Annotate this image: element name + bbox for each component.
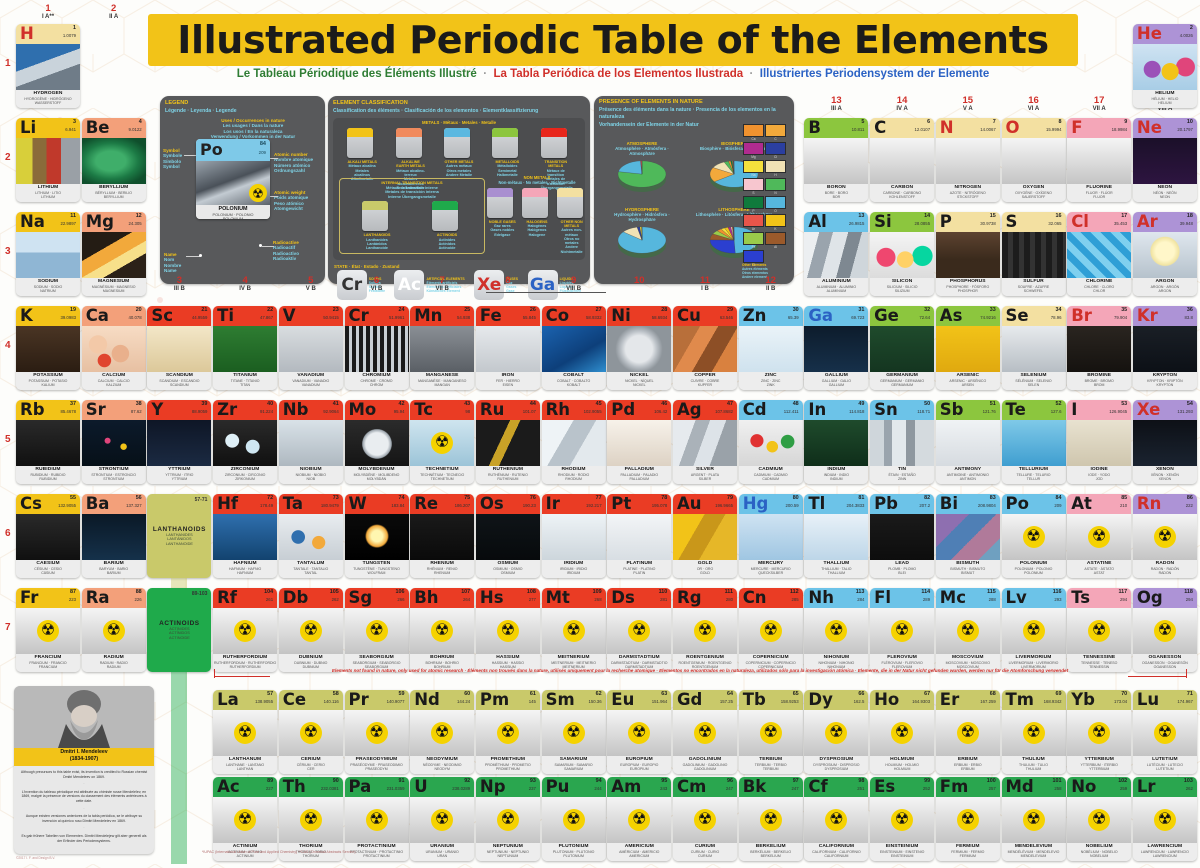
group-number: 17: [1067, 96, 1131, 106]
element-atomic-number: 32: [924, 307, 930, 313]
nature-legend-h: H: [765, 160, 786, 177]
element-card-am[interactable]: Am95243☢AMERICIUMAMÉRICIUM · AMERICIOAME…: [607, 777, 671, 861]
element-card-ba[interactable]: Ba56137.327BARIUMBARYUM · BARIOBARIUM: [82, 494, 146, 578]
element-card-mc[interactable]: Mc115288☢MOSCOVIUMMOSCOVIUM · MOSCOVIOMO…: [936, 588, 1000, 672]
element-card-tc[interactable]: Tc4398☢TECHNETIUMTECHNÉTIUM · TECNECIOTE…: [410, 400, 474, 484]
element-atomic-number: 76: [530, 495, 536, 501]
element-card-lr[interactable]: Lr103262☢LAWRENCIUMLAWRENCIUM · LAWRENCI…: [1133, 777, 1197, 861]
element-card-bi[interactable]: Bi83208.9804BISMUTHBISMUTH · BISMUTOBISM…: [936, 494, 1000, 578]
element-card-at[interactable]: At85210☢ASTATINEASTATE · ÁSTATOASTAT: [1067, 494, 1131, 578]
element-card-ag[interactable]: Ag47107.8682SILVERARGENT · PLATASILBER: [673, 400, 737, 484]
element-image: [16, 138, 80, 184]
element-card-in[interactable]: In49114.818INDIUMINDIUM · INDIOINDIUM: [804, 400, 868, 484]
group-number: 8: [476, 276, 540, 286]
element-card-cd[interactable]: Cd48112.411CADMIUMCADMIUM · CADMIOCADMIU…: [739, 400, 803, 484]
element-header: Sn50118.71: [870, 400, 934, 420]
element-card-tb[interactable]: Tb65158.9253☢TERBIUMTERBIUM · TERBIOTERB…: [739, 690, 803, 774]
element-atomic-weight: 281: [660, 597, 667, 602]
element-atomic-number: 102: [1118, 778, 1127, 784]
element-card-mt[interactable]: Mt109268☢MEITNERIUMMEITNERIUM · MEITNERI…: [542, 588, 606, 672]
element-header: Nb4192.9064: [279, 400, 343, 420]
element-symbol: Cn: [743, 588, 767, 608]
group-header-8: 8: [476, 276, 540, 286]
element-header: Cd48112.411: [739, 400, 803, 420]
element-card-n[interactable]: N714.0067NITROGENAZOTE · NITRÓGENOSTICKS…: [936, 118, 1000, 202]
element-atomic-weight: 284: [857, 597, 864, 602]
element-card-cu[interactable]: Cu2963.546COPPERCUIVRE · COBREKUPFER: [673, 306, 737, 390]
element-card-lv[interactable]: Lv116293☢LIVERMORIUMLIVERMORIUM · LIVERM…: [1002, 588, 1066, 672]
element-atomic-weight: 30.9738: [980, 221, 996, 226]
element-symbol: At: [1071, 494, 1092, 514]
element-card-pt[interactable]: Pt78195.078PLATINUMPLATINE · PLATINOPLAT…: [607, 494, 671, 578]
element-atomic-number: 116: [1053, 589, 1062, 595]
element-card-bh[interactable]: Bh107264☢BOHRIUMBOHRIUM · BOHRIOBOHRIUM: [410, 588, 474, 672]
element-image: ☢: [870, 710, 934, 756]
element-symbol: Tm: [1006, 690, 1034, 710]
element-image: [82, 326, 146, 372]
element-header: U92238.0289: [410, 777, 474, 797]
element-symbol: Os: [480, 494, 504, 514]
group-number: 12: [739, 276, 803, 286]
element-card-w[interactable]: W74183.84TUNGSTENTUNGSTÈNE · TUNGSTENOWO…: [345, 494, 409, 578]
element-atomic-number: 82: [924, 495, 930, 501]
element-atomic-weight: 137.327: [126, 503, 142, 508]
element-image: [673, 326, 737, 372]
element-image: ☢: [16, 608, 80, 654]
element-card-nd[interactable]: Nd60144.24☢NEODYMIUMNÉODYME · NEODIMIONE…: [410, 690, 474, 774]
element-card-er[interactable]: Er68167.259☢ERBIUMERBIUM · ERBIOERBIUM: [936, 690, 1000, 774]
element-card-as[interactable]: As3374.9216ARSENICARSENIC · ARSÉNICOARSE…: [936, 306, 1000, 390]
element-header: Tm69168.9342: [1002, 690, 1066, 710]
element-card-au[interactable]: Au79196.9665GOLDOR · OROGOLD: [673, 494, 737, 578]
element-card-fr[interactable]: Fr87223☢FRANCIUMFRANCIUM · FRANCIOFRANCI…: [16, 588, 80, 672]
element-card-pm[interactable]: Pm61145☢PROMETHIUMPROMÉTHIUM · PROMETIOP…: [476, 690, 540, 774]
element-name-block: LEADPLOMB · PLOMOBLEI: [870, 560, 934, 578]
element-card-pd[interactable]: Pd46106.42PALLADIUMPALLADIUM · PALADIOPA…: [607, 400, 671, 484]
element-name-block: DYSPROSIUMDYSPROSIUM · DISPROSIODYSPROSI…: [804, 756, 868, 774]
element-header: Gd64157.25: [673, 690, 737, 710]
element-atomic-number: 7: [993, 119, 996, 125]
element-symbol: Es: [874, 777, 895, 797]
element-name-block: ARSENICARSENIC · ARSÉNICOARSEN: [936, 372, 1000, 390]
element-card-co[interactable]: Co2758.9332COBALTCOBALT · COBALTOKOBALT: [542, 306, 606, 390]
element-symbol: Si: [874, 212, 892, 232]
element-header: Na1122.9897: [16, 212, 80, 232]
element-card-rg[interactable]: Rg111280☢ROENTGENIUMROENTGENIUM · ROENTG…: [673, 588, 737, 672]
element-card-cl[interactable]: Cl1735.453CHLORINECHLORE · CLOROCHLOR: [1067, 212, 1131, 296]
element-atomic-weight: 39.0983: [60, 315, 76, 320]
nature-legend-ca: Ca: [743, 124, 764, 141]
element-card-y[interactable]: Y3988.9059YTTRIUMYTTRIUM · ITRIOYTTRIUM: [147, 400, 211, 484]
element-symbol: Ga: [808, 306, 833, 326]
group-roman: VI B: [345, 286, 409, 293]
element-symbol: Se: [1006, 306, 1029, 326]
element-card-pa[interactable]: Pa91231.0359☢PROTACTINIUMPROTACTINIUM · …: [345, 777, 409, 861]
element-symbol: Tb: [743, 690, 766, 710]
element-atomic-number: 99: [924, 778, 930, 784]
element-card-sg[interactable]: Sg106266☢SEABORGIUMSEABORGIUM · SEABORGI…: [345, 588, 409, 672]
element-card-pr[interactable]: Pr59140.9077☢PRASEODYMIUMPRASÉODYME · PR…: [345, 690, 409, 774]
element-card-i[interactable]: I53126.9045IODINEIODE · YODOJOD: [1067, 400, 1131, 484]
element-image: [804, 232, 868, 278]
element-symbol: Ir: [546, 494, 560, 514]
nature-legend-n: N: [765, 178, 786, 195]
element-header: Tc4398: [410, 400, 474, 420]
classification-inner: METALS · Métaux · Metales · Metalle ALKA…: [333, 118, 585, 260]
element-card-rh[interactable]: Rh45102.9055RHODIUMRHODIUM · RODIORHODIU…: [542, 400, 606, 484]
element-card-ac[interactable]: Ac89227☢ACTINIUMACTINIUM · ACTINIOACTINI…: [213, 777, 277, 861]
legend-sample-image: ☢: [196, 161, 270, 205]
element-name-block: SODIUMSODIUM · SODIONATRIUM: [16, 278, 80, 296]
element-card-ds[interactable]: Ds110281☢DARMSTADTIUMDARMSTADTIUM · DARM…: [607, 588, 671, 672]
element-card-la[interactable]: La57138.9055☢LANTHANUMLANTHANE · LANTANO…: [213, 690, 277, 774]
element-header: Ho67164.9303: [870, 690, 934, 710]
element-symbol: Er: [940, 690, 959, 710]
element-card-si[interactable]: Si1428.0855SILICONSILICIUM · SILICIOSILI…: [870, 212, 934, 296]
element-atomic-weight: 231.0359: [387, 786, 405, 791]
element-card-db[interactable]: Db105262☢DUBNIUMDUBNIUM · DUBNIODUBNIUM: [279, 588, 343, 672]
element-card-th[interactable]: Th90232.0381☢THORIUMTHORIUM · TORIOTHORI…: [279, 777, 343, 861]
element-image: ☢: [279, 710, 343, 756]
element-image: ☢: [410, 710, 474, 756]
element-card-gd[interactable]: Gd64157.25☢GADOLINIUMGADOLINIUM · GADOLI…: [673, 690, 737, 774]
element-symbol: B: [808, 118, 821, 138]
element-atomic-weight: 144.24: [457, 699, 470, 704]
element-card-ni[interactable]: Ni2858.6934NICKELNICKEL · NÍQUELNICKEL: [607, 306, 671, 390]
element-atomic-weight: 18.9984: [1112, 127, 1128, 132]
element-atomic-weight: 47.867: [260, 315, 273, 320]
element-image: [542, 420, 606, 466]
element-card-sb[interactable]: Sb51121.76ANTIMONYANTIMOINE · ANTIMONIOA…: [936, 400, 1000, 484]
element-name-block: RADIUMRADIUM · RADIORADIUM: [82, 654, 146, 672]
element-name-block: TERBIUMTERBIUM · TERBIOTERBIUM: [739, 756, 803, 774]
element-card-te[interactable]: Te52127.6TELLURIUMTELLURE · TELURIOTELLU…: [1002, 400, 1066, 484]
element-card-ir[interactable]: Ir77192.217IRIDIUMIRIDIUM · IRIDIOIRIDIU…: [542, 494, 606, 578]
element-card-fl[interactable]: Fl114289☢FLEROVIUMFLÉROVIUM · FLEROVIOFL…: [870, 588, 934, 672]
element-header: At85210: [1067, 494, 1131, 514]
element-symbol: I: [1071, 400, 1077, 420]
element-card-p[interactable]: P1530.9738PHOSPHORUSPHOSPHORE · FÓSFOROP…: [936, 212, 1000, 296]
element-image: [345, 514, 409, 560]
element-card-he[interactable]: He24.0026HELIUMHÉLIUM · HELIOHELIUM: [1133, 24, 1197, 108]
element-card-rb[interactable]: Rb3785.4678RUBIDIUMRUBIDIUM · RUBIDIORUB…: [16, 400, 80, 484]
group-roman: IV B: [213, 286, 277, 293]
element-image: [1067, 232, 1131, 278]
element-card-ne[interactable]: Ne1020.1797NEONNÉON · NEÓNNEON: [1133, 118, 1197, 202]
element-atomic-number: 18: [1187, 213, 1193, 219]
element-card-be[interactable]: Be49.0122BERYLLIUMBÉRYLLIUM · BERILIOBER…: [82, 118, 146, 202]
element-card-og[interactable]: Og118294☢OGANESSONOGANESSON · OGANESÓNOG…: [1133, 588, 1197, 672]
element-symbol: Rb: [20, 400, 45, 420]
element-atomic-number: 60: [464, 691, 470, 697]
element-card-se[interactable]: Se3478.96SELENIUMSÉLÉNIUM · SELENIOSELEN: [1002, 306, 1066, 390]
element-card-f[interactable]: F918.9984FLUORINEFLUOR · FLÚORFLUOR: [1067, 118, 1131, 202]
element-name-block: HAFNIUMHAFNIUM · HAFNIOHAFNIUM: [213, 560, 277, 578]
element-card-cn[interactable]: Cn112285☢COPERNICIUMCOPERNICIUM · COPERN…: [739, 588, 803, 672]
element-header: Og118294: [1133, 588, 1197, 608]
radioactive-icon: ☢: [234, 722, 256, 744]
element-card-b[interactable]: B510.811BORONBORE · BOROBOR: [804, 118, 868, 202]
element-name-block: MAGNESIUMMAGNÉSIUM · MAGNESIOMAGNESIUM: [82, 278, 146, 296]
element-atomic-weight: 140.116: [324, 699, 339, 704]
element-card-tm[interactable]: Tm69168.9342☢THULIUMTHULIUM · TULIOTHULI…: [1002, 690, 1066, 774]
element-card-hf[interactable]: Hf72178.49HAFNIUMHAFNIUM · HAFNIOHAFNIUM: [213, 494, 277, 578]
element-atomic-number: 5: [861, 119, 864, 125]
radioactive-icon: ☢: [891, 809, 913, 831]
element-image: ☢: [607, 797, 671, 843]
element-atomic-number: 9: [1124, 119, 1127, 125]
element-card-nb[interactable]: Nb4192.9064NIOBIUMNIOBIUM · NIOBIONIOB: [279, 400, 343, 484]
element-header: Mc115288: [936, 588, 1000, 608]
nonmetals-swatch-row: NOBLE GASESGaz raresGases noblesEdelgase…: [485, 188, 589, 254]
element-card-ge[interactable]: Ge3272.64GERMANIUMGERMANIUM · GERMANIOGE…: [870, 306, 934, 390]
series-connector: [171, 672, 187, 864]
element-card-k[interactable]: K1939.0983POTASSIUMPOTASSIUM · POTASIOKA…: [16, 306, 80, 390]
nature-legend-c: C: [765, 124, 786, 141]
element-card-hs[interactable]: Hs108277☢HASSIUMHASSIUM · HASSIOHASSIUM: [476, 588, 540, 672]
element-symbol: Na: [20, 212, 45, 232]
element-card-yb[interactable]: Yb70173.04☢YTTERBIUMYTTERBIUM · ITERBIOY…: [1067, 690, 1131, 774]
element-card-mg[interactable]: Mg1224.305MAGNESIUMMAGNÉSIUM · MAGNESIOM…: [82, 212, 146, 296]
element-card-ta[interactable]: Ta73180.9479TANTALUMTANTALE · TANTALIOTA…: [279, 494, 343, 578]
element-header: Ni2858.6934: [607, 306, 671, 326]
radioactive-icon: ☢: [694, 722, 716, 744]
element-atomic-weight: 72.64: [919, 315, 930, 320]
element-symbol: Bi: [940, 494, 958, 514]
element-name-block: PRASEODYMIUMPRASÉODYME · PRASEODIMIOPRAS…: [345, 756, 409, 774]
element-card-os[interactable]: Os76190.23OSMIUMOSMIUM · OSMIOOSMIUM: [476, 494, 540, 578]
element-name-block: NEONNÉON · NEÓNNEON: [1133, 184, 1197, 202]
element-atomic-number: 46: [661, 401, 667, 407]
element-atomic-number: 100: [987, 778, 996, 784]
element-name-block: RHODIUMRHODIUM · RODIORHODIUM: [542, 466, 606, 484]
element-atomic-number: 75: [464, 495, 470, 501]
element-card-s[interactable]: S1632.065SULFURSOUFRE · AZUFRESCHWEFEL: [1002, 212, 1066, 296]
element-header: Br3579.904: [1067, 306, 1131, 326]
element-card-md[interactable]: Md101258☢MENDELEVIUMMENDÉLÉVIUM · MENDEL…: [1002, 777, 1066, 861]
element-header: Ti2247.867: [213, 306, 277, 326]
group-roman: VI A: [1002, 106, 1066, 113]
element-atomic-number: 117: [1118, 589, 1127, 595]
element-card-ar[interactable]: Ar1839.948ARGONARGON · ARGÓNARGON: [1133, 212, 1197, 296]
element-header: Ce58140.116: [279, 690, 343, 710]
radioactive-icon: ☢: [431, 432, 453, 454]
element-atomic-weight: 210: [1120, 503, 1127, 508]
element-card-es[interactable]: Es99252☢EINSTEINIUMEINSTEINIUM · EINSTEN…: [870, 777, 934, 861]
itm-swatch-row: LANTHANOIDSLanthanidesLantánidosLanthano…: [342, 201, 482, 250]
element-image: [673, 420, 737, 466]
element-header: Ac89227: [213, 777, 277, 797]
swatch-actinoids: ACTINOIDSActinidesActínidosActinoide: [432, 201, 462, 250]
element-atomic-number: 48: [793, 401, 799, 407]
element-name-block: CALIFORNIUMCALIFORNIUM · CALIFORNIOCALIF…: [804, 843, 868, 861]
element-atomic-number: 22: [267, 307, 273, 313]
element-card-o[interactable]: O815.9994OXYGENOXYGÈNE · OXÍGENOSAUERSTO…: [1002, 118, 1066, 202]
element-name-block: RUBIDIUMRUBIDIUM · RUBIDIORUBIDIUM: [16, 466, 80, 484]
element-name-block: ALUMINIUMALUMINIUM · ALUMINIOALUMINIUM: [804, 278, 868, 296]
radioactive-icon: ☢: [1088, 620, 1110, 642]
footnote: *IUPAC (International Union of Pure and …: [202, 850, 356, 854]
element-card-cm[interactable]: Cm96247☢CURIUMCURIUM · CURIOCURIUM: [673, 777, 737, 861]
element-atomic-weight: 14.0067: [980, 127, 996, 132]
element-header: Pt78195.078: [607, 494, 671, 514]
element-card-hg[interactable]: Hg80200.59MERCURYMERCURE · MERCURIOQUECK…: [739, 494, 803, 578]
element-card-ho[interactable]: Ho67164.9303☢HOLMIUMHOLMIUM · HOLMIOHOLM…: [870, 690, 934, 774]
element-card-sc[interactable]: Sc2144.9559SCANDIUMSCANDIUM · ESCANDIOSC…: [147, 306, 211, 390]
element-header: Ba56137.327: [82, 494, 146, 514]
element-symbol: S: [1006, 212, 1018, 232]
element-atomic-weight: 54.938: [457, 315, 470, 320]
page-title: Illustrated Periodic Table of the Elemen…: [177, 18, 1048, 62]
element-atomic-number: 109: [593, 589, 602, 595]
element-atomic-weight: 51.9961: [389, 315, 405, 320]
element-card-zr[interactable]: Zr4091.224ZIRCONIUMZIRCONIUM · CIRCONIOZ…: [213, 400, 277, 484]
element-name-block: THALLIUMTHALLIUM · TALIOTHALLIUM: [804, 560, 868, 578]
element-card-nh[interactable]: Nh113284☢NIHONIUMNIHONIUM · NIHONIONIHON…: [804, 588, 868, 672]
radioactive-icon: ☢: [628, 809, 650, 831]
element-card-ti[interactable]: Ti2247.867TITANIUMTITANE · TITANIOTITAN: [213, 306, 277, 390]
element-header: Fe2655.845: [476, 306, 540, 326]
classification-title: ELEMENT CLASSIFICATION: [333, 100, 408, 106]
element-atomic-weight: 131.293: [1177, 409, 1193, 414]
element-atomic-weight: 40.078: [129, 315, 142, 320]
element-atomic-weight: 35.453: [1114, 221, 1127, 226]
element-name-block: CHLORINECHLORE · CLOROCHLOR: [1067, 278, 1131, 296]
element-name-block: NITROGENAZOTE · NITRÓGENOSTICKSTOFF: [936, 184, 1000, 202]
element-symbol: Bh: [414, 588, 438, 608]
element-atomic-number: 42: [399, 401, 405, 407]
element-header: Po84209: [1002, 494, 1066, 514]
element-symbol: Tc: [414, 400, 433, 420]
element-atomic-number: 38: [136, 401, 142, 407]
element-card-ca[interactable]: Ca2040.078CALCIUMCALCIUM · CALCIOKALZIUM: [82, 306, 146, 390]
red-note: Elements not found in nature, only used …: [214, 668, 1186, 673]
element-atomic-number: 113: [856, 589, 865, 595]
element-image: [1002, 326, 1066, 372]
element-card-mn[interactable]: Mn2554.938MANGANESEMANGANÈSE · MANGANESO…: [410, 306, 474, 390]
page-title-band: Illustrated Periodic Table of the Elemen…: [148, 14, 1078, 66]
element-symbol: K: [20, 306, 33, 326]
element-card-re[interactable]: Re75186.207RHENIUMRHÉNIUM · RENIORHENIUM: [410, 494, 474, 578]
element-atomic-number: 53: [1121, 401, 1127, 407]
element-card-sn[interactable]: Sn50118.71TINÉTAIN · ESTAÑOZINN: [870, 400, 934, 484]
element-card-xe[interactable]: Xe54131.293XENONXÉNON · XENÓNXENON: [1133, 400, 1197, 484]
group-number: 1: [16, 4, 80, 14]
element-card-rf[interactable]: Rf104261☢RUTHERFORDIUMRUTHERFORDIUM · RU…: [213, 588, 277, 672]
element-atomic-number: 14: [924, 213, 930, 219]
element-atomic-number: 101: [1053, 778, 1062, 784]
swatch-lanthanoids: LANTHANOIDSLanthanidesLantánidosLanthano…: [362, 201, 392, 250]
swatch-chip: [347, 128, 373, 158]
element-name-block: MENDELEVIUMMENDÉLÉVIUM · MENDELEVIOMENDE…: [1002, 843, 1066, 861]
element-card-eu[interactable]: Eu63151.964☢EUROPIUMEUROPIUM · EUROPIOEU…: [607, 690, 671, 774]
element-card-tl[interactable]: Tl81204.3833THALLIUMTHALLIUM · TALIOTHAL…: [804, 494, 868, 578]
element-card-kr[interactable]: Kr3683.8KRYPTONKRYPTON · KRIPTÓNKRYPTON: [1133, 306, 1197, 390]
element-card-pb[interactable]: Pb82207.2LEADPLOMB · PLOMOBLEI: [870, 494, 934, 578]
subtitle-de: Illustriertes Periodensystem der Element…: [760, 68, 989, 80]
element-card-cf[interactable]: Cf98251☢CALIFORNIUMCALIFORNIUM · CALIFOR…: [804, 777, 868, 861]
element-atomic-number: 58: [333, 691, 339, 697]
element-card-mo[interactable]: Mo4295.94MOLYBDENUMMOLYBDÈNE · MOLIBDENO…: [345, 400, 409, 484]
element-atomic-number: 31: [858, 307, 864, 313]
nonmetals-header: NON METALS Non-métaux · No metales · Nic…: [485, 176, 589, 186]
element-name-block: BERKELIUMBERKÉLIUM · BERKELIOBERKELIUM: [739, 843, 803, 861]
placeholder-name: LANTHANOIDS: [153, 526, 206, 533]
element-card-np[interactable]: Np93237☢NEPTUNIUMNEPTUNIUM · NEPTUNIONEP…: [476, 777, 540, 861]
element-header: Ir77192.217: [542, 494, 606, 514]
element-card-zn[interactable]: Zn3065.39ZINCZINC · ZINCZINK: [739, 306, 803, 390]
group-header-12: 12II B: [739, 276, 803, 293]
element-card-sm[interactable]: Sm62150.36☢SAMARIUMSAMARIUM · SAMARIOSAM…: [542, 690, 606, 774]
element-card-v[interactable]: V2350.9415VANADIUMVANADIUM · VANADIOVANA…: [279, 306, 343, 390]
legend-name-label: Name Nom Nombre Name: [164, 252, 181, 274]
element-card-cs[interactable]: Cs55132.9055CAESIUMCÉSIUM · CESIOCÄSIUM: [16, 494, 80, 578]
element-card-ra[interactable]: Ra88226☢RADIUMRADIUM · RADIORADIUM: [82, 588, 146, 672]
element-image: [1067, 138, 1131, 184]
element-atomic-weight: 101.07: [523, 409, 536, 414]
element-symbol: Li: [20, 118, 36, 138]
element-header: Y3988.9059: [147, 400, 211, 420]
element-image: ☢: [213, 608, 277, 654]
element-card-lu[interactable]: Lu71174.967☢LUTETIUMLUTÉCIUM · LUTECIOLU…: [1133, 690, 1197, 774]
group-roman: I A**: [16, 14, 80, 21]
element-card-fe[interactable]: Fe2655.845IRONFER · HIERROEISEN: [476, 306, 540, 390]
element-atomic-number: 39: [201, 401, 207, 407]
element-atomic-number: 114: [921, 589, 930, 595]
element-header: Li36.941: [16, 118, 80, 138]
element-card-ts[interactable]: Ts117294☢TENNESSINETENNESSE · TENESOTENN…: [1067, 588, 1131, 672]
radioactive-icon: ☢: [891, 620, 913, 642]
element-symbol: He: [1137, 24, 1162, 44]
element-card-h[interactable]: H11.0079HYDROGENHYDROGÈNE · HIDRÓGENOWAS…: [16, 24, 80, 108]
group-number: 2: [82, 4, 146, 14]
element-card-br[interactable]: Br3579.904BROMINEBROME · BROMOBROM: [1067, 306, 1131, 390]
element-card-ce[interactable]: Ce58140.116☢CERIUMCÉRIUM · CERIOCER: [279, 690, 343, 774]
element-image: ☢: [1133, 710, 1197, 756]
element-card-no[interactable]: No102259☢NOBELIUMNOBÉLIUM · NOBELIONOBEL…: [1067, 777, 1131, 861]
element-header: B510.811: [804, 118, 868, 138]
element-atomic-weight: 91.224: [260, 409, 273, 414]
element-card-po[interactable]: Po84209☢POLONIUMPOLONIUM · POLONIOPOLONI…: [1002, 494, 1066, 578]
element-card-bk[interactable]: Bk97247☢BERKELIUMBERKÉLIUM · BERKELIOBER…: [739, 777, 803, 861]
element-card-li[interactable]: Li36.941LITHIUMLITHIUM · LITIOLITHIUM: [16, 118, 80, 202]
element-name-block: MERCURYMERCURE · MERCURIOQUECKSILBER: [739, 560, 803, 578]
element-atomic-weight: 65.39: [788, 315, 799, 320]
element-atomic-number: 13: [858, 213, 864, 219]
placeholder-actinoids[interactable]: 89-103ACTINOIDSACTINIDESACTÍNIDOSACTINOI…: [147, 588, 211, 672]
element-card-rn[interactable]: Rn86222☢RADONRADON · RADÓNRADON: [1133, 494, 1197, 578]
element-card-sr[interactable]: Sr3887.62STRONTIUMSTRONTIUM · ESTRONCIOS…: [82, 400, 146, 484]
element-card-u[interactable]: U92238.0289☢URANIUMURANIUM · URANIOURAN: [410, 777, 474, 861]
element-card-ga[interactable]: Ga3169.723GALLIUMGALLIUM · GALIOGALLIUM: [804, 306, 868, 390]
element-card-dy[interactable]: Dy66162.5☢DYSPROSIUMDYSPROSIUM · DISPROS…: [804, 690, 868, 774]
element-card-al[interactable]: Al1326.9815ALUMINIUMALUMINIUM · ALUMINIO…: [804, 212, 868, 296]
element-card-pu[interactable]: Pu94244☢PLUTONIUMPLUTONIUM · PLUTONIOPLU…: [542, 777, 606, 861]
element-card-fm[interactable]: Fm100257☢FERMIUMFERMIUM · FERMIOFERMIUM: [936, 777, 1000, 861]
placeholder-lanthanoids[interactable]: 57-71LANTHANOIDSLANTHANIDESLANTÁNIDOSLAN…: [147, 494, 211, 578]
element-name-block: SULFURSOUFRE · AZUFRESCHWEFEL: [1002, 278, 1066, 296]
element-card-na[interactable]: Na1122.9897SODIUMSODIUM · SODIONATRIUM: [16, 212, 80, 296]
element-card-ru[interactable]: Ru44101.07RUTHENIUMRUTHÉNIUM · RUTENIORU…: [476, 400, 540, 484]
element-card-c[interactable]: C612.0107CARBONCARBONE · CARBONOKOHLENST…: [870, 118, 934, 202]
element-symbol: Th: [283, 777, 306, 797]
element-atomic-number: 40: [267, 401, 273, 407]
element-name-block: MANGANESEMANGANÈSE · MANGANESOMANGAN: [410, 372, 474, 390]
element-atomic-number: 2: [1190, 25, 1193, 31]
element-atomic-weight: 223: [69, 597, 76, 602]
element-card-cr[interactable]: Cr2451.9961CHROMIUMCHROME · CROMOCHROM: [345, 306, 409, 390]
element-header: Mt109268: [542, 588, 606, 608]
